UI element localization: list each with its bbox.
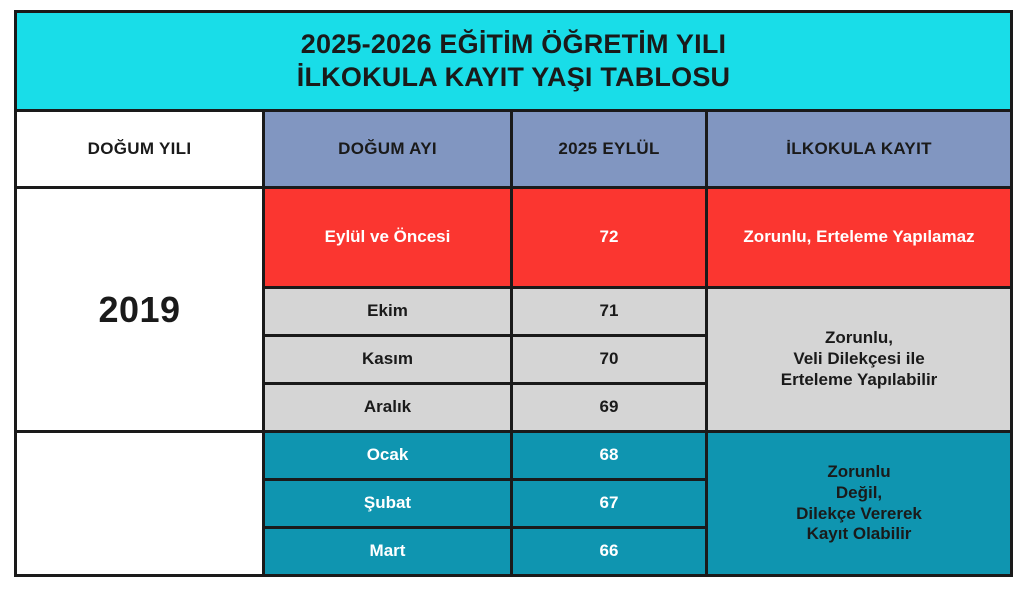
registration-age-table-wrapper: 2025-2026 EĞİTİM ÖĞRETİM YILI İLKOKULA K… (14, 10, 1010, 590)
status-line-2: Veli Dilekçesi ile (708, 349, 1010, 370)
age-months-cell: 66 (512, 528, 707, 576)
age-months-cell: 72 (512, 188, 707, 288)
status-badge: Zorunlu, Veli Dilekçesi ile Erteleme Yap… (707, 288, 1012, 432)
month-cell: Ekim (264, 288, 512, 336)
age-months-cell: 71 (512, 288, 707, 336)
title-line-2: İLKOKULA KAYIT YAŞI TABLOSU (17, 61, 1010, 94)
status-badge: Zorunlu, Erteleme Yapılamaz (707, 188, 1012, 288)
table-header-row: DOĞUM YILI DOĞUM AYI 2025 EYLÜL İLKOKULA… (16, 111, 1012, 188)
table-title-row: 2025-2026 EĞİTİM ÖĞRETİM YILI İLKOKULA K… (16, 12, 1012, 111)
status-line-4: Kayıt Olabilir (708, 524, 1010, 545)
status-badge: Zorunlu Değil, Dilekçe Vererek Kayıt Ola… (707, 432, 1012, 576)
age-months-cell: 70 (512, 336, 707, 384)
page-title: 2025-2026 EĞİTİM ÖĞRETİM YILI İLKOKULA K… (16, 12, 1012, 111)
table-row: 2019 Eylül ve Öncesi 72 Zorunlu, Ertelem… (16, 188, 1012, 288)
status-line-1: Zorunlu (708, 462, 1010, 483)
table-row: Ocak 68 Zorunlu Değil, Dilekçe Vererek K… (16, 432, 1012, 480)
birth-year-value-secondary (16, 432, 264, 576)
column-header-september-2025: 2025 EYLÜL (512, 111, 707, 188)
month-cell: Mart (264, 528, 512, 576)
month-cell: Eylül ve Öncesi (264, 188, 512, 288)
column-header-birth-month: DOĞUM AYI (264, 111, 512, 188)
month-cell: Aralık (264, 384, 512, 432)
title-line-1: 2025-2026 EĞİTİM ÖĞRETİM YILI (17, 28, 1010, 61)
age-months-cell: 68 (512, 432, 707, 480)
status-line-3: Dilekçe Vererek (708, 504, 1010, 525)
birth-year-value: 2019 (16, 188, 264, 432)
page-root: 2025-2026 EĞİTİM ÖĞRETİM YILI İLKOKULA K… (0, 0, 1024, 577)
age-months-cell: 67 (512, 480, 707, 528)
month-cell: Kasım (264, 336, 512, 384)
month-cell: Ocak (264, 432, 512, 480)
status-line-3: Erteleme Yapılabilir (708, 370, 1010, 391)
month-cell: Şubat (264, 480, 512, 528)
status-line-1: Zorunlu, (708, 328, 1010, 349)
registration-age-table: 2025-2026 EĞİTİM ÖĞRETİM YILI İLKOKULA K… (14, 10, 1013, 577)
age-months-cell: 69 (512, 384, 707, 432)
column-header-birth-year: DOĞUM YILI (16, 111, 264, 188)
column-header-primary-registration: İLKOKULA KAYIT (707, 111, 1012, 188)
status-line-2: Değil, (708, 483, 1010, 504)
